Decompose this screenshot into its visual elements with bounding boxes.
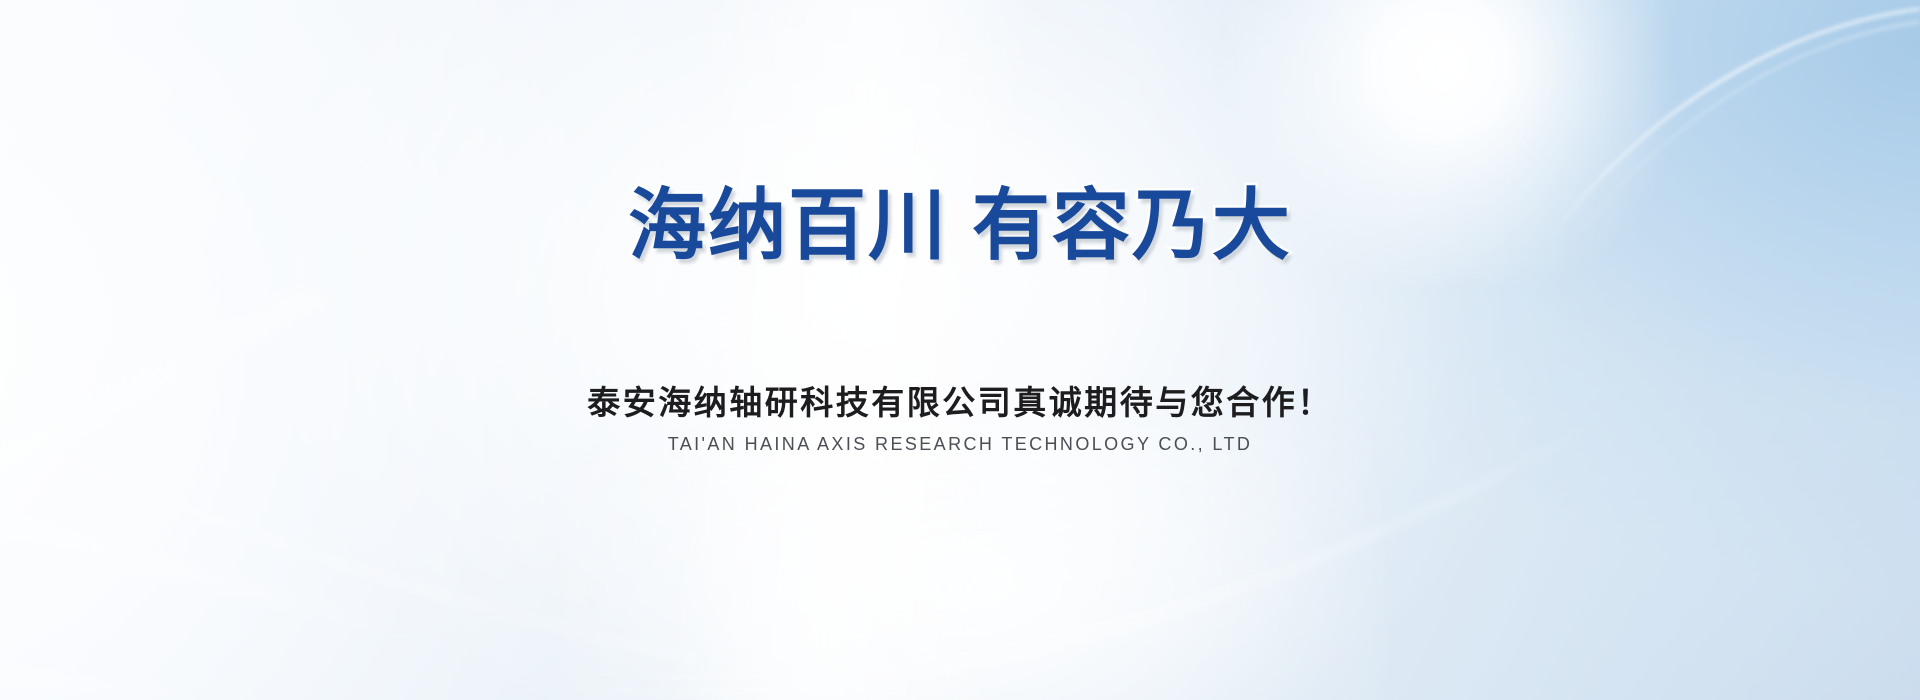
banner-content: 海纳百川 有容乃大 泰安海纳轴研科技有限公司真诚期待与您合作！ TAI'AN H…	[0, 0, 1920, 700]
banner-stage: 海纳百川 有容乃大 泰安海纳轴研科技有限公司真诚期待与您合作！ TAI'AN H…	[0, 0, 1920, 700]
banner-subtitle-english: TAI'AN HAINA AXIS RESEARCH TECHNOLOGY CO…	[0, 433, 1920, 456]
banner-subtitle-chinese: 泰安海纳轴研科技有限公司真诚期待与您合作！	[0, 382, 1920, 423]
banner-subtitle-block: 泰安海纳轴研科技有限公司真诚期待与您合作！ TAI'AN HAINA AXIS …	[0, 382, 1920, 457]
banner-headline: 海纳百川 有容乃大	[0, 186, 1920, 264]
